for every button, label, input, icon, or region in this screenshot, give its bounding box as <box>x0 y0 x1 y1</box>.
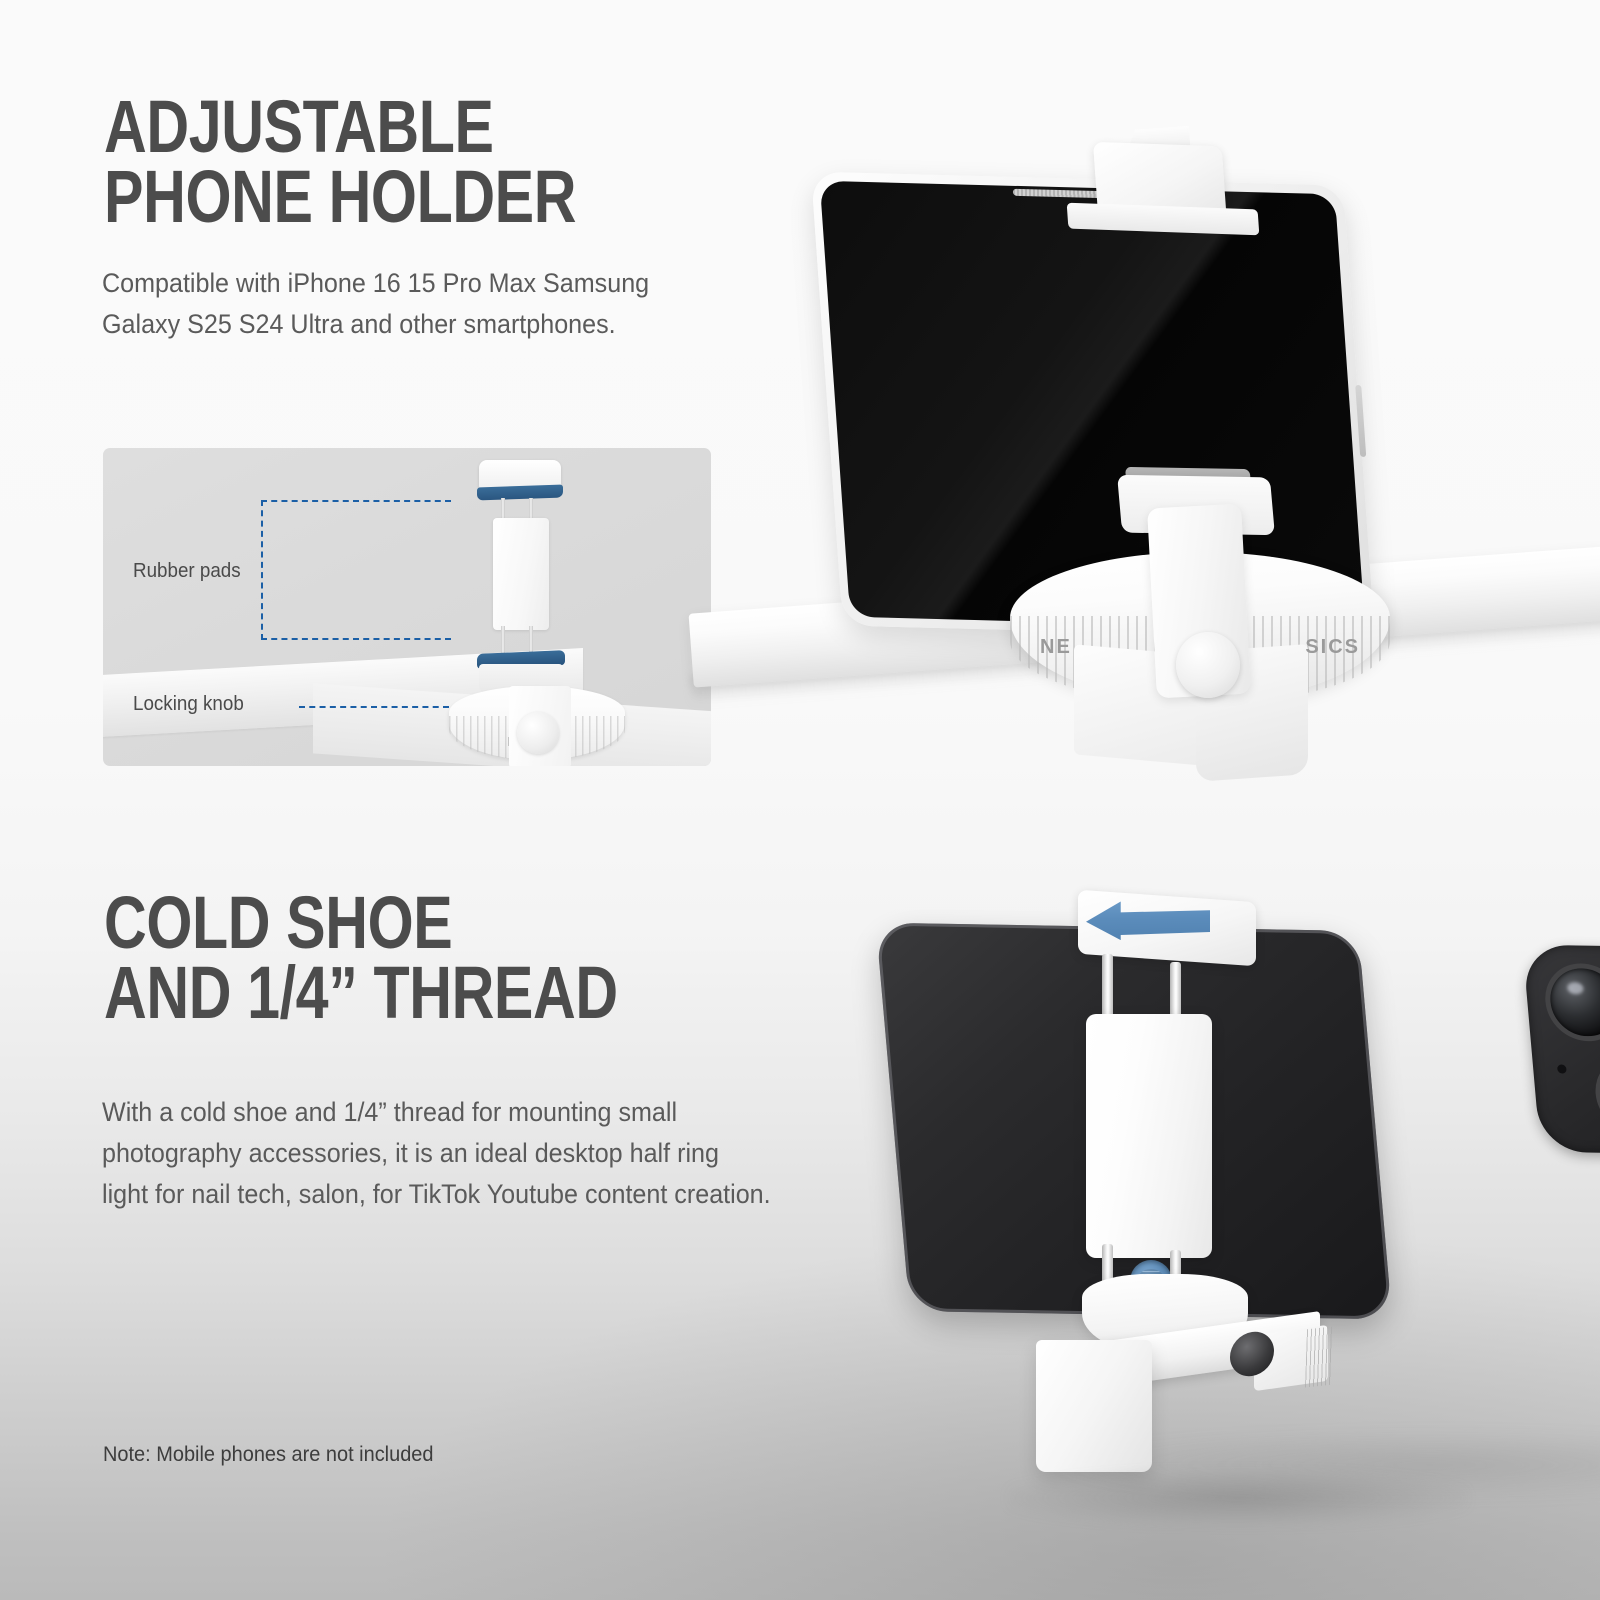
section-one-headline: ADJUSTABLE PHONE HOLDER <box>104 92 576 233</box>
product-photo-cold-shoe-and-thread <box>870 870 1570 1550</box>
inset-holder-body <box>493 518 549 630</box>
label-locking-knob: Locking knob <box>133 693 244 716</box>
inset-locking-knob-cap <box>517 712 559 754</box>
inset-phone-holder-illustration: NE SICS <box>455 460 585 760</box>
section-one-body: Compatible with iPhone 16 15 Pro Max Sam… <box>102 263 697 345</box>
camera-microphone <box>1557 1064 1567 1073</box>
brand-text-right: SICS <box>1305 636 1360 659</box>
label-rubber-pads: Rubber pads <box>133 560 241 583</box>
holder-contact-shadow <box>1008 1470 1468 1526</box>
infographic-page: ADJUSTABLE PHONE HOLDER Compatible with … <box>0 0 1600 1600</box>
disclaimer-note: Note: Mobile phones are not included <box>103 1443 434 1467</box>
thumb-screw-ridges <box>1305 1327 1333 1388</box>
inset-rubber-pad-upper <box>477 484 563 500</box>
section-two-body: With a cold shoe and 1/4” thread for mou… <box>102 1092 846 1215</box>
rubber-pads-callout-line <box>261 500 451 640</box>
locking-knob-callout-line <box>299 706 449 708</box>
brand-text-left: NE <box>1040 636 1072 659</box>
rotation-dial-assembly: NE SICS <box>1000 530 1400 760</box>
inset-diagram-panel: Rubber pads Locking knob NE SICS <box>103 448 711 766</box>
lens-glint <box>1567 982 1584 994</box>
camera-module <box>1522 945 1600 1156</box>
section-two-headline: COLD SHOE AND 1/4” THREAD <box>104 888 618 1029</box>
product-photo-phone-holder-on-bar: NE SICS <box>700 150 1600 790</box>
locking-knob <box>1176 632 1240 698</box>
camera-lens <box>1542 963 1600 1042</box>
holder-foot-block <box>1036 1340 1152 1472</box>
phone-holder-assembly <box>1078 878 1258 1398</box>
holder-center-body <box>1086 1014 1212 1258</box>
camera-lens <box>1592 1055 1600 1134</box>
